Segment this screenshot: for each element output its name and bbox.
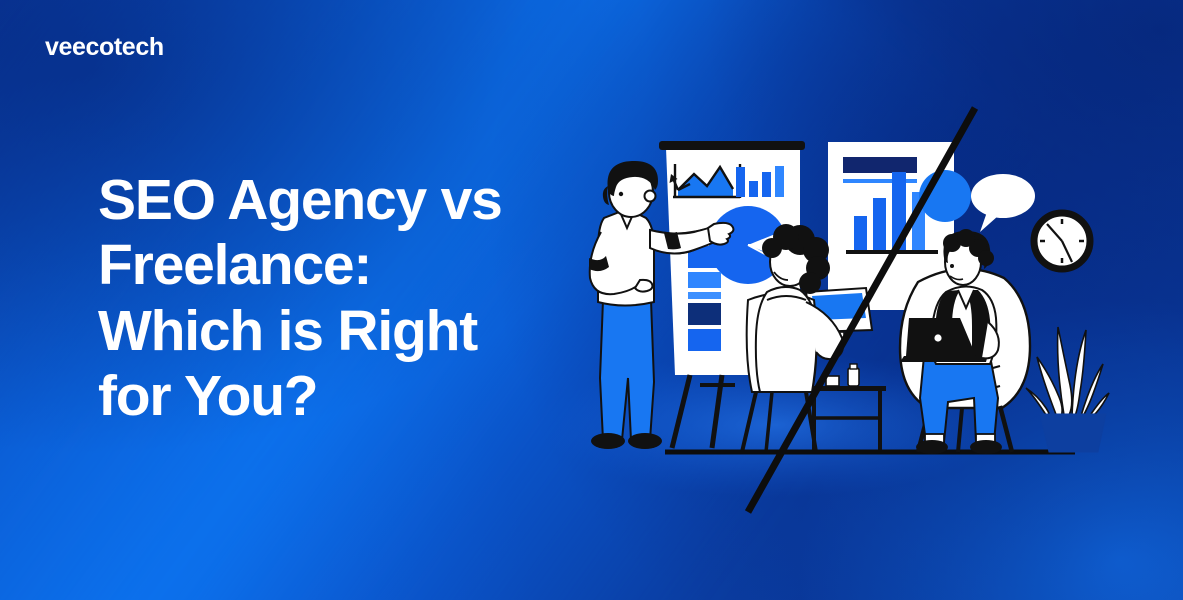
brand-logo[interactable]: veecotech — [45, 33, 164, 62]
hero-banner: veecotech SEO Agency vs Freelance: Which… — [0, 0, 1183, 600]
page-title: SEO Agency vs Freelance: Which is Right … — [98, 168, 568, 429]
